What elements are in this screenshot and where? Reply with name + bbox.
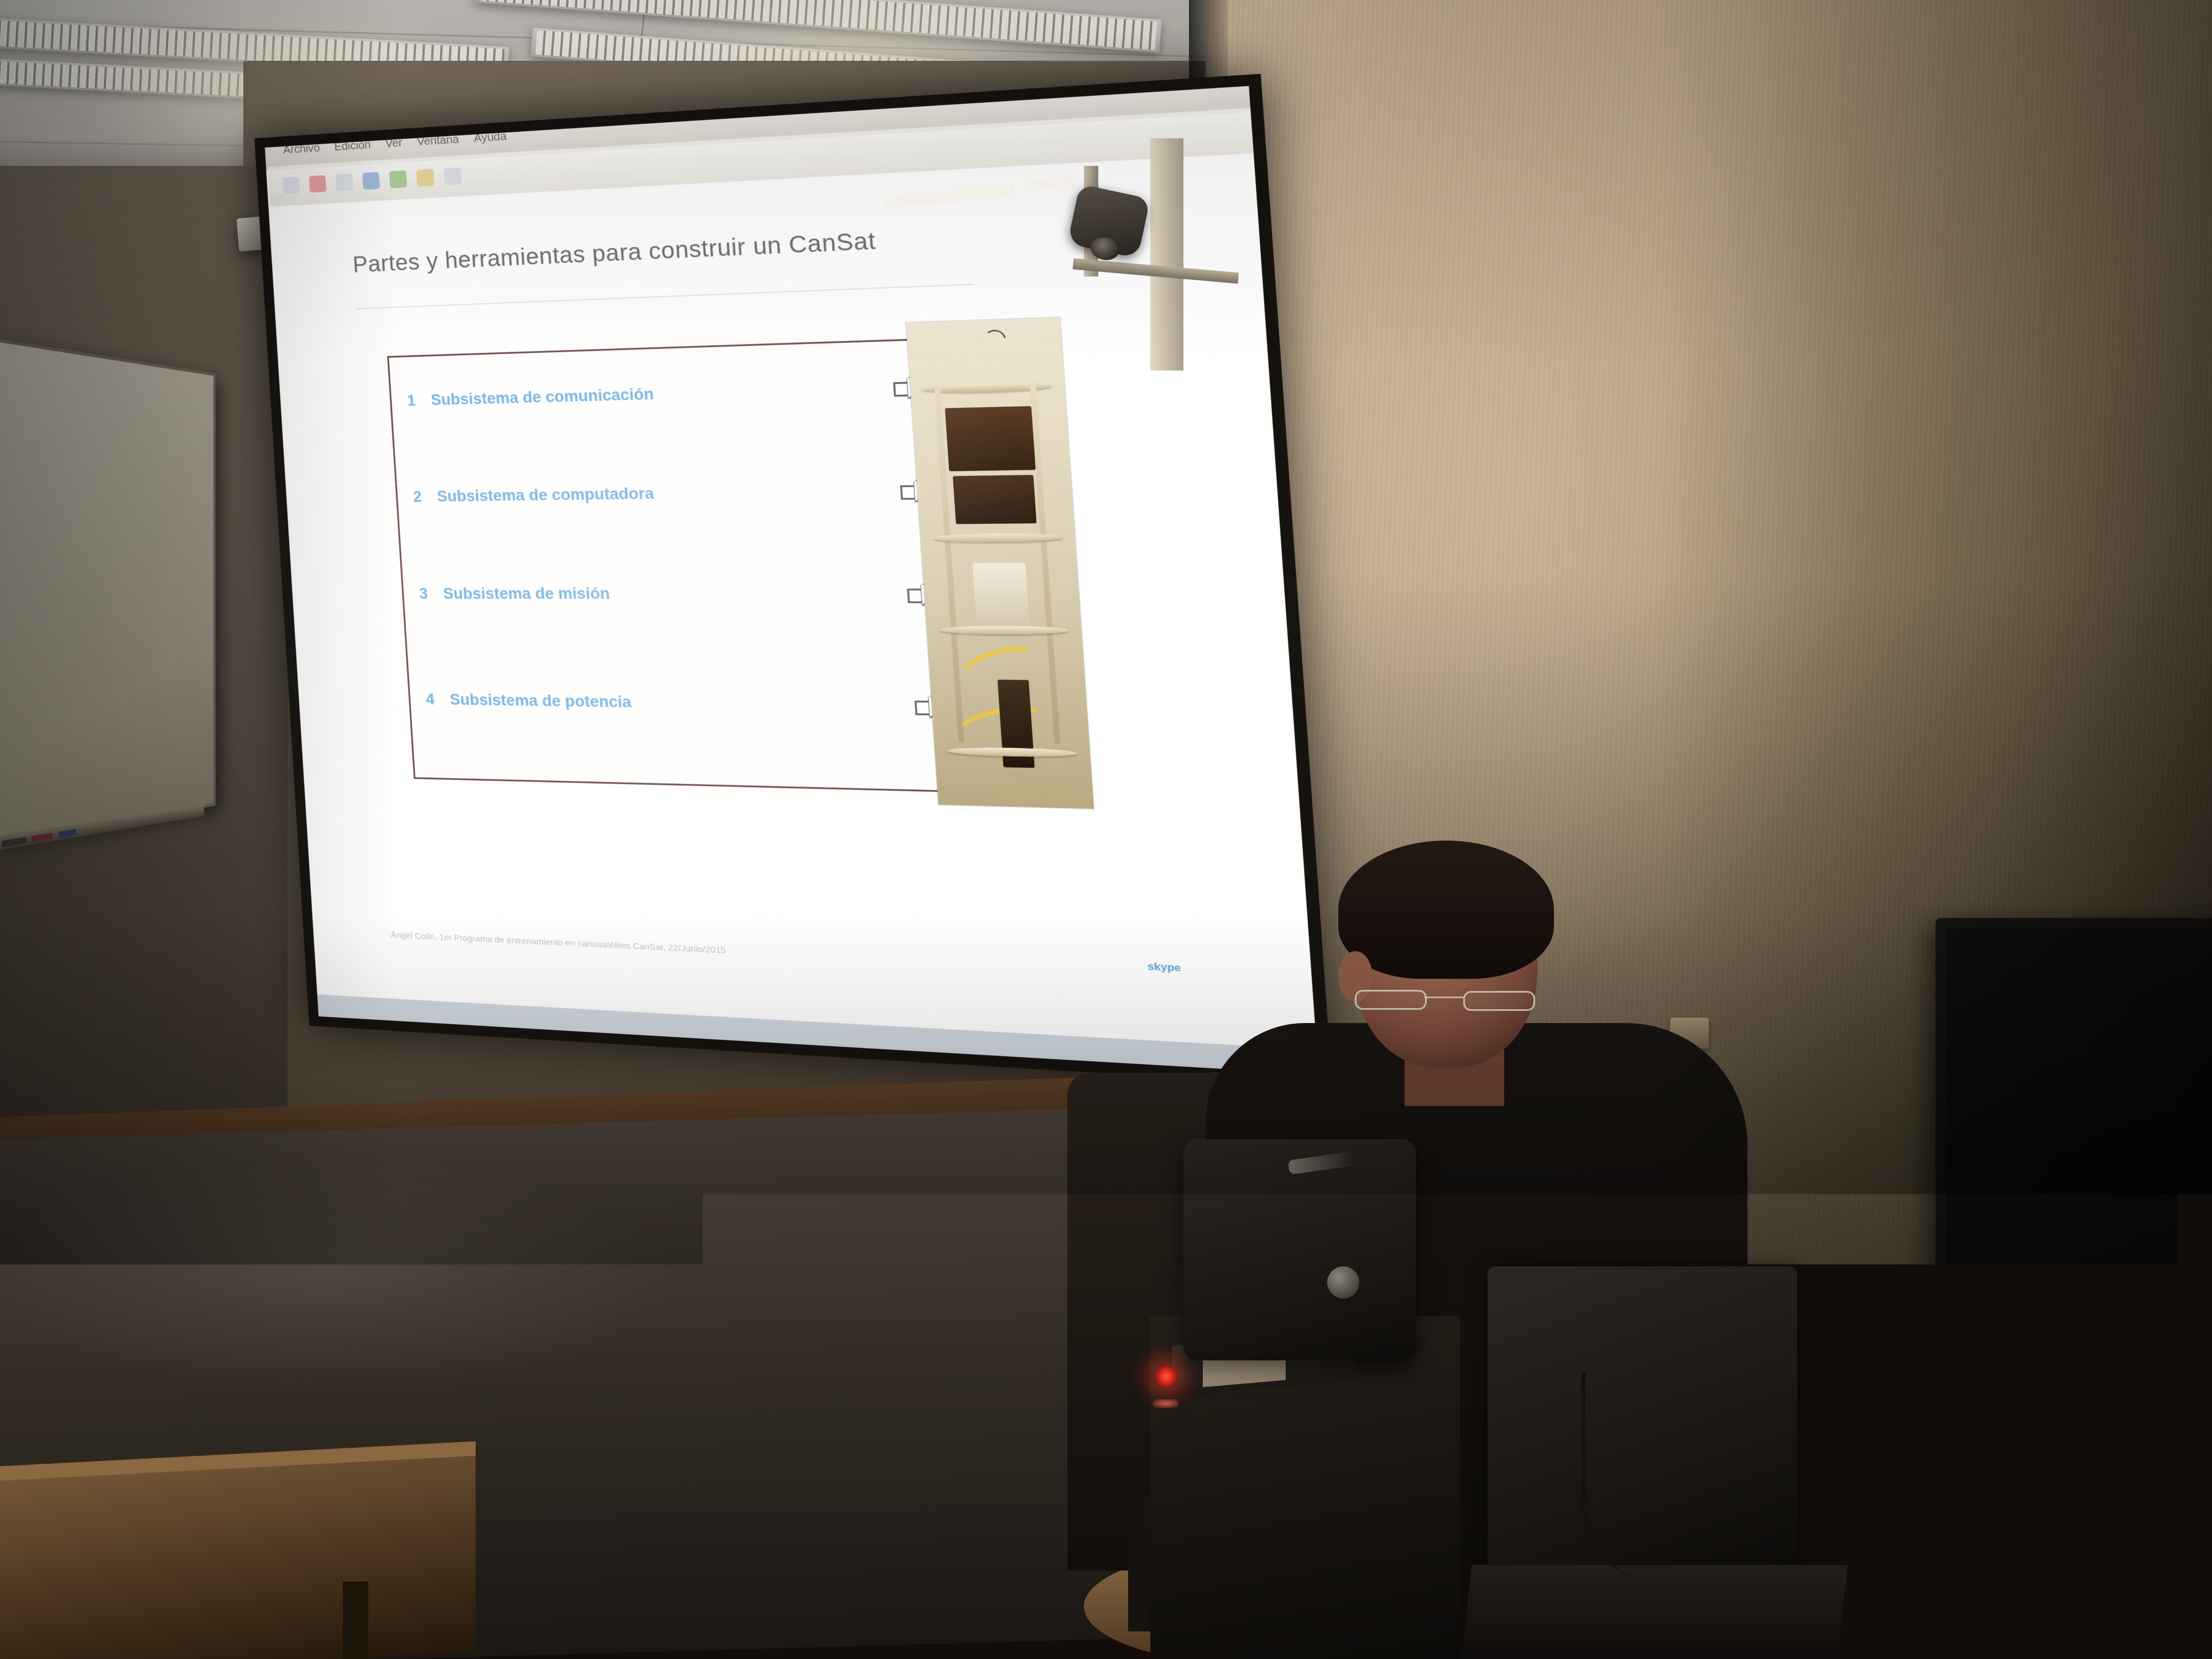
slide-title: Partes y herramientas para construir un … — [352, 228, 877, 278]
list-item-label: Subsistema de comunicación — [430, 385, 654, 409]
list-item: 1 Subsistema de comunicación — [406, 376, 924, 411]
monitor-screen — [1945, 928, 2212, 1315]
table-leg — [343, 1582, 368, 1659]
computer-mouse[interactable] — [2018, 1416, 2079, 1454]
list-item: 2 Subsistema de computadora — [413, 479, 931, 508]
eyeglass-lens-right — [1463, 991, 1535, 1011]
asset-label-sticker — [2018, 1300, 2157, 1355]
whiteboard — [0, 337, 216, 842]
save-icon[interactable] — [362, 172, 380, 190]
menu-item-edicion[interactable]: Edición — [334, 139, 372, 154]
list-item: 3 Subsistema de misión — [419, 583, 938, 605]
cansat-rod — [1030, 382, 1061, 744]
play-icon[interactable] — [389, 170, 408, 188]
list-item-number: 3 — [419, 585, 444, 603]
record-icon[interactable] — [309, 175, 327, 193]
settings-icon[interactable] — [416, 169, 435, 186]
power-cable — [1582, 1371, 1718, 1582]
power-led-indicator — [1156, 1366, 1177, 1387]
floor-light-pool — [0, 1150, 940, 1460]
person-hair — [1338, 841, 1554, 979]
camera-wall-plate — [1150, 138, 1183, 371]
eyeglass-lens-left — [1355, 990, 1427, 1010]
menu-item-ventana[interactable]: Ventana — [416, 133, 459, 149]
marker[interactable] — [2, 837, 27, 847]
menu-item-ayuda[interactable]: Ayuda — [473, 131, 507, 145]
presentation-slide: Partes y herramientas para construir un … — [290, 180, 1249, 1014]
eyeglasses — [1355, 990, 1537, 1009]
menu-item-archivo[interactable]: Archivo — [283, 142, 320, 157]
new-file-icon[interactable] — [283, 176, 300, 194]
classroom-scene: Archivo Edición Ver Ventana Ayuda — [0, 0, 2212, 1659]
cansat-ring — [947, 747, 1078, 758]
cansat-prototype-photo — [906, 317, 1093, 808]
marker[interactable] — [58, 829, 76, 838]
marker[interactable] — [32, 833, 53, 843]
slide-title-rule — [356, 284, 975, 309]
list-item-number: 2 — [413, 488, 437, 506]
status-led-indicator — [1153, 1399, 1178, 1408]
communication-board — [945, 406, 1036, 471]
eyeglass-bridge — [1425, 997, 1463, 998]
subsystem-list-box: 1 Subsistema de comunicación 2 Subsistem… — [387, 338, 970, 793]
list-item-number: 1 — [406, 392, 431, 410]
list-item-label: Subsistema de misión — [442, 585, 610, 603]
antenna-wire — [973, 326, 1013, 372]
slide-footer: Ángel Colín, 1er Programa de entrenamien… — [390, 930, 726, 956]
zoom-icon[interactable] — [444, 167, 462, 185]
list-item-label: Subsistema de computadora — [436, 485, 654, 506]
list-item: 4 Subsistema de potencia — [425, 689, 945, 717]
mission-module — [973, 563, 1030, 636]
computer-board — [953, 474, 1036, 524]
projector-focus-knob[interactable] — [1327, 1266, 1359, 1298]
open-folder-icon[interactable] — [336, 174, 353, 191]
list-item-number: 4 — [425, 691, 450, 708]
menu-item-ver[interactable]: Ver — [385, 137, 403, 151]
list-item-label: Subsistema de potencia — [450, 691, 632, 711]
